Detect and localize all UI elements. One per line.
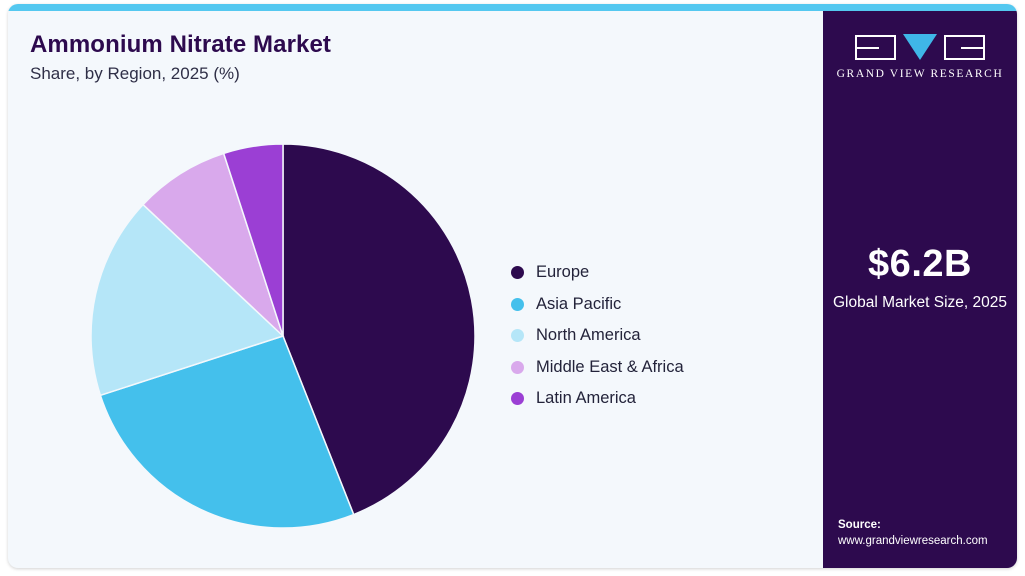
logo: GRAND VIEW RESEARCH [823, 33, 1017, 80]
legend-label: Middle East & Africa [536, 358, 684, 377]
chart-area: Ammonium Nitrate Market Share, by Region… [8, 11, 823, 568]
logo-triangle-icon [903, 34, 937, 60]
legend-swatch-icon [511, 329, 524, 342]
logo-text: GRAND VIEW RESEARCH [823, 68, 1017, 80]
legend-swatch-icon [511, 392, 524, 405]
legend-label: North America [536, 326, 641, 345]
logo-right-bracket-icon [944, 35, 985, 60]
legend-item[interactable]: Europe [511, 257, 801, 289]
legend-label: Latin America [536, 389, 636, 408]
legend-item[interactable]: North America [511, 320, 801, 352]
accent-top-bar [8, 4, 1017, 11]
source-block: Source: www.grandviewresearch.com [838, 517, 1017, 550]
logo-mark [823, 33, 1017, 61]
legend-item[interactable]: Asia Pacific [511, 289, 801, 321]
pie-chart [90, 143, 476, 529]
legend-swatch-icon [511, 266, 524, 279]
stat-block: $6.2B Global Market Size, 2025 [823, 243, 1017, 314]
brand-panel: GRAND VIEW RESEARCH $6.2B Global Market … [823, 11, 1017, 568]
source-label: Source: [838, 517, 1017, 534]
logo-left-bracket-icon [855, 35, 896, 60]
legend-swatch-icon [511, 361, 524, 374]
legend-item[interactable]: Latin America [511, 383, 801, 415]
page-subtitle: Share, by Region, 2025 (%) [30, 64, 240, 84]
chart-legend: EuropeAsia PacificNorth AmericaMiddle Ea… [511, 257, 801, 415]
source-url[interactable]: www.grandviewresearch.com [838, 533, 1017, 550]
pie-chart-svg [90, 143, 476, 529]
legend-swatch-icon [511, 298, 524, 311]
infographic-card: Ammonium Nitrate Market Share, by Region… [8, 4, 1017, 568]
stat-caption: Global Market Size, 2025 [823, 293, 1017, 314]
legend-label: Asia Pacific [536, 295, 621, 314]
legend-label: Europe [536, 263, 589, 282]
stat-value: $6.2B [823, 243, 1017, 286]
legend-item[interactable]: Middle East & Africa [511, 352, 801, 384]
page-title: Ammonium Nitrate Market [30, 31, 331, 59]
